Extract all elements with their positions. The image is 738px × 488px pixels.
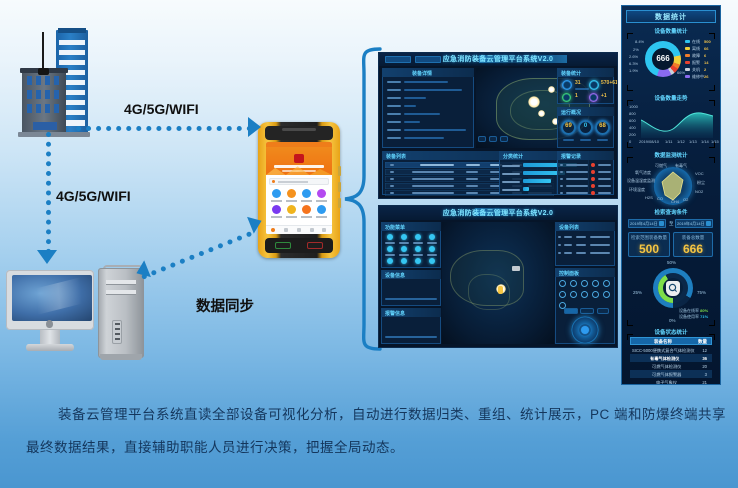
panel-info-1: 设备信息 bbox=[381, 270, 441, 306]
panel-title-list: 设备列表 bbox=[559, 224, 579, 231]
gauge-tick-25: 25% bbox=[633, 290, 642, 295]
panel-stats-top: 装备统计 31 570+61 1 +1 bbox=[557, 68, 614, 104]
panel-title-table: 装备列表 bbox=[386, 153, 406, 160]
calendar-icon-2[interactable] bbox=[706, 221, 711, 226]
legend-value-3: 14 bbox=[704, 60, 708, 65]
section-title-trend: 设备数量走势 bbox=[627, 94, 715, 102]
radar-axis-10: 设备温湿度监测 bbox=[627, 178, 655, 184]
trend-xtick-5: 1/15 bbox=[711, 139, 719, 144]
kpi-value-4: +1 bbox=[601, 93, 607, 99]
kpi-value-1: 666 bbox=[673, 242, 713, 256]
table-cell-count: 36 bbox=[702, 356, 707, 361]
rpanel-title: 数据统计 bbox=[626, 12, 716, 22]
panel-title-bar: 分类统计 bbox=[503, 153, 523, 160]
panel-gauge-overview: 运行概况 69 0 68 bbox=[557, 107, 614, 148]
gauge-legend-value-0: 80% bbox=[700, 308, 708, 313]
table-row[interactable]: 电子气象仪 21 bbox=[630, 378, 712, 384]
connector-phone-to-pc bbox=[141, 231, 252, 280]
panel-alarm-list: 报警记录 bbox=[557, 151, 614, 195]
table-cell-count: 3 bbox=[705, 372, 707, 377]
section-gauge: 50% 75% 0% 25% 设备在线率 80% 设备使用率 71% bbox=[627, 260, 715, 326]
table-cell-name: 电子气象仪 bbox=[656, 380, 677, 385]
desktop-computer-icon bbox=[4, 268, 148, 360]
connector-label-data-sync: 数据同步 bbox=[196, 295, 254, 316]
panel-title-alarm: 报警记录 bbox=[561, 153, 581, 160]
rpanel-header: 数据统计 bbox=[626, 10, 716, 23]
legend-value-1: 66 bbox=[704, 46, 708, 51]
trend-ytick-3: 400 bbox=[629, 125, 636, 130]
donut-slice-label-1: 2% bbox=[633, 47, 639, 52]
radar-axis-4: NO2 bbox=[695, 189, 703, 194]
table-row[interactable]: 有毒气体检测仪 36 bbox=[630, 354, 712, 362]
table-col-count: 数量 bbox=[698, 339, 707, 345]
section-device-count-donut: 设备数量统计 666 8.4% 2% 2.6% 6.3% 1.9% 66% 在线… bbox=[627, 27, 715, 91]
panel-device-list: 设备列表 bbox=[555, 222, 615, 266]
radar-axis-0: 可燃气 bbox=[655, 163, 667, 169]
kpi-label-0: 检索范围装备数量 bbox=[628, 235, 670, 241]
trend-ytick-4: 200 bbox=[629, 132, 636, 137]
legend-label-5: 维修中 bbox=[692, 74, 704, 80]
gauge-tick-0: 0% bbox=[669, 318, 676, 323]
kpi-value-1: 31 bbox=[575, 80, 581, 86]
donut-slice-label-4: 1.9% bbox=[629, 68, 638, 73]
trend-xtick-0: 2019/08/10 bbox=[639, 139, 659, 144]
gauge-legend-value-1: 71% bbox=[700, 314, 708, 319]
donut-slice-label-3: 6.3% bbox=[629, 61, 638, 66]
panel-control: 控制面板 bbox=[555, 268, 615, 344]
caption-line-1: 装备云管理平台系统直读全部设备可视化分析，自动进行数据归类、重组、统计展示，PC… bbox=[0, 398, 738, 431]
caption-line-2: 最终数据结果，直接辅助职能人员进行决策，把握全局动态。 bbox=[0, 431, 738, 464]
date-start-input[interactable]: 2019年4月14日 bbox=[628, 219, 666, 228]
kpi-value-2: 570+61 bbox=[601, 80, 617, 86]
grouping-brace bbox=[342, 46, 384, 352]
panel-map-monitor-2 bbox=[442, 222, 554, 344]
legend-value-2: 6 bbox=[704, 53, 706, 58]
table-row[interactable]: SICC-5000便携式复合气体检测仪 12 bbox=[630, 346, 712, 354]
panel-title-control: 控制面板 bbox=[559, 270, 579, 277]
section-status-table: 设备状态统计 装备名称 数量 SICC-5000便携式复合气体检测仪 12 有毒… bbox=[627, 328, 715, 384]
infographic-canvas: 4G/5G/WIFI 4G/5G/WIFI 数据同步 应急消防装备云管理平台系统… bbox=[0, 0, 738, 488]
table-cell-count: 21 bbox=[702, 380, 707, 385]
panel-title-detail: 装备详情 bbox=[412, 70, 432, 77]
table-cell-count: 20 bbox=[702, 364, 707, 369]
section-title-radar: 数据监测统计 bbox=[627, 151, 715, 159]
trend-xtick-1: 1/11 bbox=[665, 139, 673, 144]
table-cell-name: 有毒气体检测仪 bbox=[650, 356, 679, 362]
rugged-handheld-icon bbox=[258, 122, 340, 258]
panel-title-info2: 报警信息 bbox=[385, 310, 405, 317]
kpi-value-3: 1 bbox=[575, 93, 578, 99]
donut-center-value: 666 bbox=[652, 54, 674, 63]
caption-block: 装备云管理平台系统直读全部设备可视化分析，自动进行数据归类、重组、统计展示，PC… bbox=[0, 398, 738, 464]
radar-axis-1: 有毒气 bbox=[675, 163, 687, 169]
date-separator: 至 bbox=[669, 221, 674, 227]
kpi-card-total-count: 装备总数量 666 bbox=[673, 232, 713, 257]
legend-label-1: 离线 bbox=[692, 46, 700, 52]
gauge-legend-label-0: 设备在线率 bbox=[679, 308, 699, 313]
radar-axis-2: VOC bbox=[695, 171, 704, 176]
table-cell-count: 12 bbox=[702, 348, 707, 353]
connector-building-to-phone bbox=[76, 126, 252, 131]
panel-title-tools: 功能菜单 bbox=[385, 224, 405, 231]
panel-tools-menu: 功能菜单 bbox=[381, 222, 441, 268]
gauge-tick-50: 50% bbox=[667, 260, 676, 265]
data-statistics-panel: 数据统计 设备数量统计 666 8.4% 2% 2.6% 6.3% 1.9% 6… bbox=[622, 6, 720, 384]
legend-value-4: 2 bbox=[704, 67, 706, 72]
legend-label-4: 关机 bbox=[692, 67, 700, 73]
trend-xtick-4: 1/14 bbox=[701, 139, 709, 144]
date-end-input[interactable]: 2019年4月14日 bbox=[675, 219, 713, 228]
radar-axis-5: CO bbox=[657, 196, 663, 201]
section-title-donut: 设备数量统计 bbox=[627, 27, 715, 35]
trend-area-series bbox=[641, 106, 713, 138]
table-header-row: 装备名称 数量 bbox=[630, 337, 712, 345]
trend-xtick-3: 1/13 bbox=[689, 139, 697, 144]
donut-slice-label-5: 66% bbox=[677, 70, 685, 75]
table-row[interactable]: 可燃气体报警器 3 bbox=[630, 370, 712, 378]
dashboard-screenshot-1: 应急消防装备云管理平台系统V2.0 装备详情 bbox=[379, 53, 617, 198]
table-cell-name: SICC-5000便携式复合气体检测仪 bbox=[632, 348, 695, 354]
section-title-table: 设备状态统计 bbox=[627, 328, 715, 336]
panel-info-2: 报警信息 bbox=[381, 308, 441, 344]
donut-slice-label-2: 2.6% bbox=[629, 54, 638, 59]
panel-title-gauge: 运行概况 bbox=[561, 109, 581, 116]
date-end-value: 2019年4月14日 bbox=[677, 221, 705, 227]
legend-label-2: 故障 bbox=[692, 53, 700, 59]
section-title-query: 检索查询条件 bbox=[627, 208, 715, 216]
date-start-value: 2019年4月14日 bbox=[630, 221, 658, 227]
arrow-head-to-phone bbox=[248, 117, 261, 137]
gauge-tick-75: 75% bbox=[697, 290, 706, 295]
connector-label-4g5gwifi-top: 4G/5G/WIFI bbox=[124, 101, 199, 117]
dashboard-screenshot-2: 应急消防装备云管理平台系统V2.0 功能菜单 bbox=[379, 206, 617, 347]
kpi-label-1: 装备总数量 bbox=[673, 235, 713, 241]
gauge-value-3: 68 bbox=[595, 123, 610, 129]
table-cell-name: 可燃气体检测仪 bbox=[652, 364, 681, 370]
panel-equipment-detail: 装备详情 bbox=[382, 68, 474, 148]
trend-ytick-5: 0 bbox=[629, 139, 631, 144]
radar-axis-3: 粉尘 bbox=[697, 180, 705, 186]
section-data-monitor-radar: 数据监测统计 可燃气 有毒气 VOC 粉尘 NO2 CO CH4 O2 H2S … bbox=[627, 151, 715, 207]
legend-value-5: 26 bbox=[704, 74, 708, 79]
gauge-legend-label-1: 设备使用率 bbox=[679, 314, 699, 319]
gauge-value-1: 69 bbox=[561, 123, 576, 129]
office-building-icon bbox=[18, 28, 90, 136]
radar-axis-6: CH4 bbox=[671, 199, 679, 204]
table-cell-name: 可燃气体报警器 bbox=[652, 372, 681, 378]
trend-ytick-0: 1000 bbox=[629, 104, 638, 109]
table-row[interactable]: 可燃气体检测仪 20 bbox=[630, 362, 712, 370]
table-col-name: 装备名称 bbox=[654, 339, 672, 345]
radar-axis-11: 氧气浓度 bbox=[635, 170, 651, 176]
kpi-card-searched-count: 检索范围装备数量 500 bbox=[628, 232, 670, 257]
gauge-value-2: 0 bbox=[578, 123, 593, 129]
trend-xtick-2: 1/12 bbox=[677, 139, 685, 144]
kpi-value-0: 500 bbox=[628, 242, 670, 256]
radar-axis-9: 环境温度 bbox=[629, 187, 645, 193]
connector-building-to-pc bbox=[46, 132, 51, 254]
gauge-legend-1: 设备使用率 71% bbox=[679, 314, 708, 320]
calendar-icon[interactable] bbox=[659, 221, 664, 226]
radar-axis-7: O2 bbox=[683, 197, 688, 202]
section-device-trend: 设备数量走势 1000 800 600 400 200 0 bbox=[627, 94, 715, 148]
radar-axis-8: H2S bbox=[645, 195, 653, 200]
panel-title-info1: 设备信息 bbox=[385, 272, 405, 279]
trend-ytick-1: 800 bbox=[629, 111, 636, 116]
arrow-head-to-pc bbox=[37, 250, 57, 264]
legend-value-0: 500 bbox=[704, 39, 711, 44]
donut-slice-label-0: 8.4% bbox=[635, 39, 644, 44]
trend-ytick-2: 600 bbox=[629, 118, 636, 123]
connector-label-4g5gwifi-left: 4G/5G/WIFI bbox=[56, 188, 131, 204]
panel-title-stats: 装备统计 bbox=[561, 70, 581, 77]
legend-label-0: 在线 bbox=[692, 39, 700, 45]
legend-label-3: 报警 bbox=[692, 60, 700, 66]
